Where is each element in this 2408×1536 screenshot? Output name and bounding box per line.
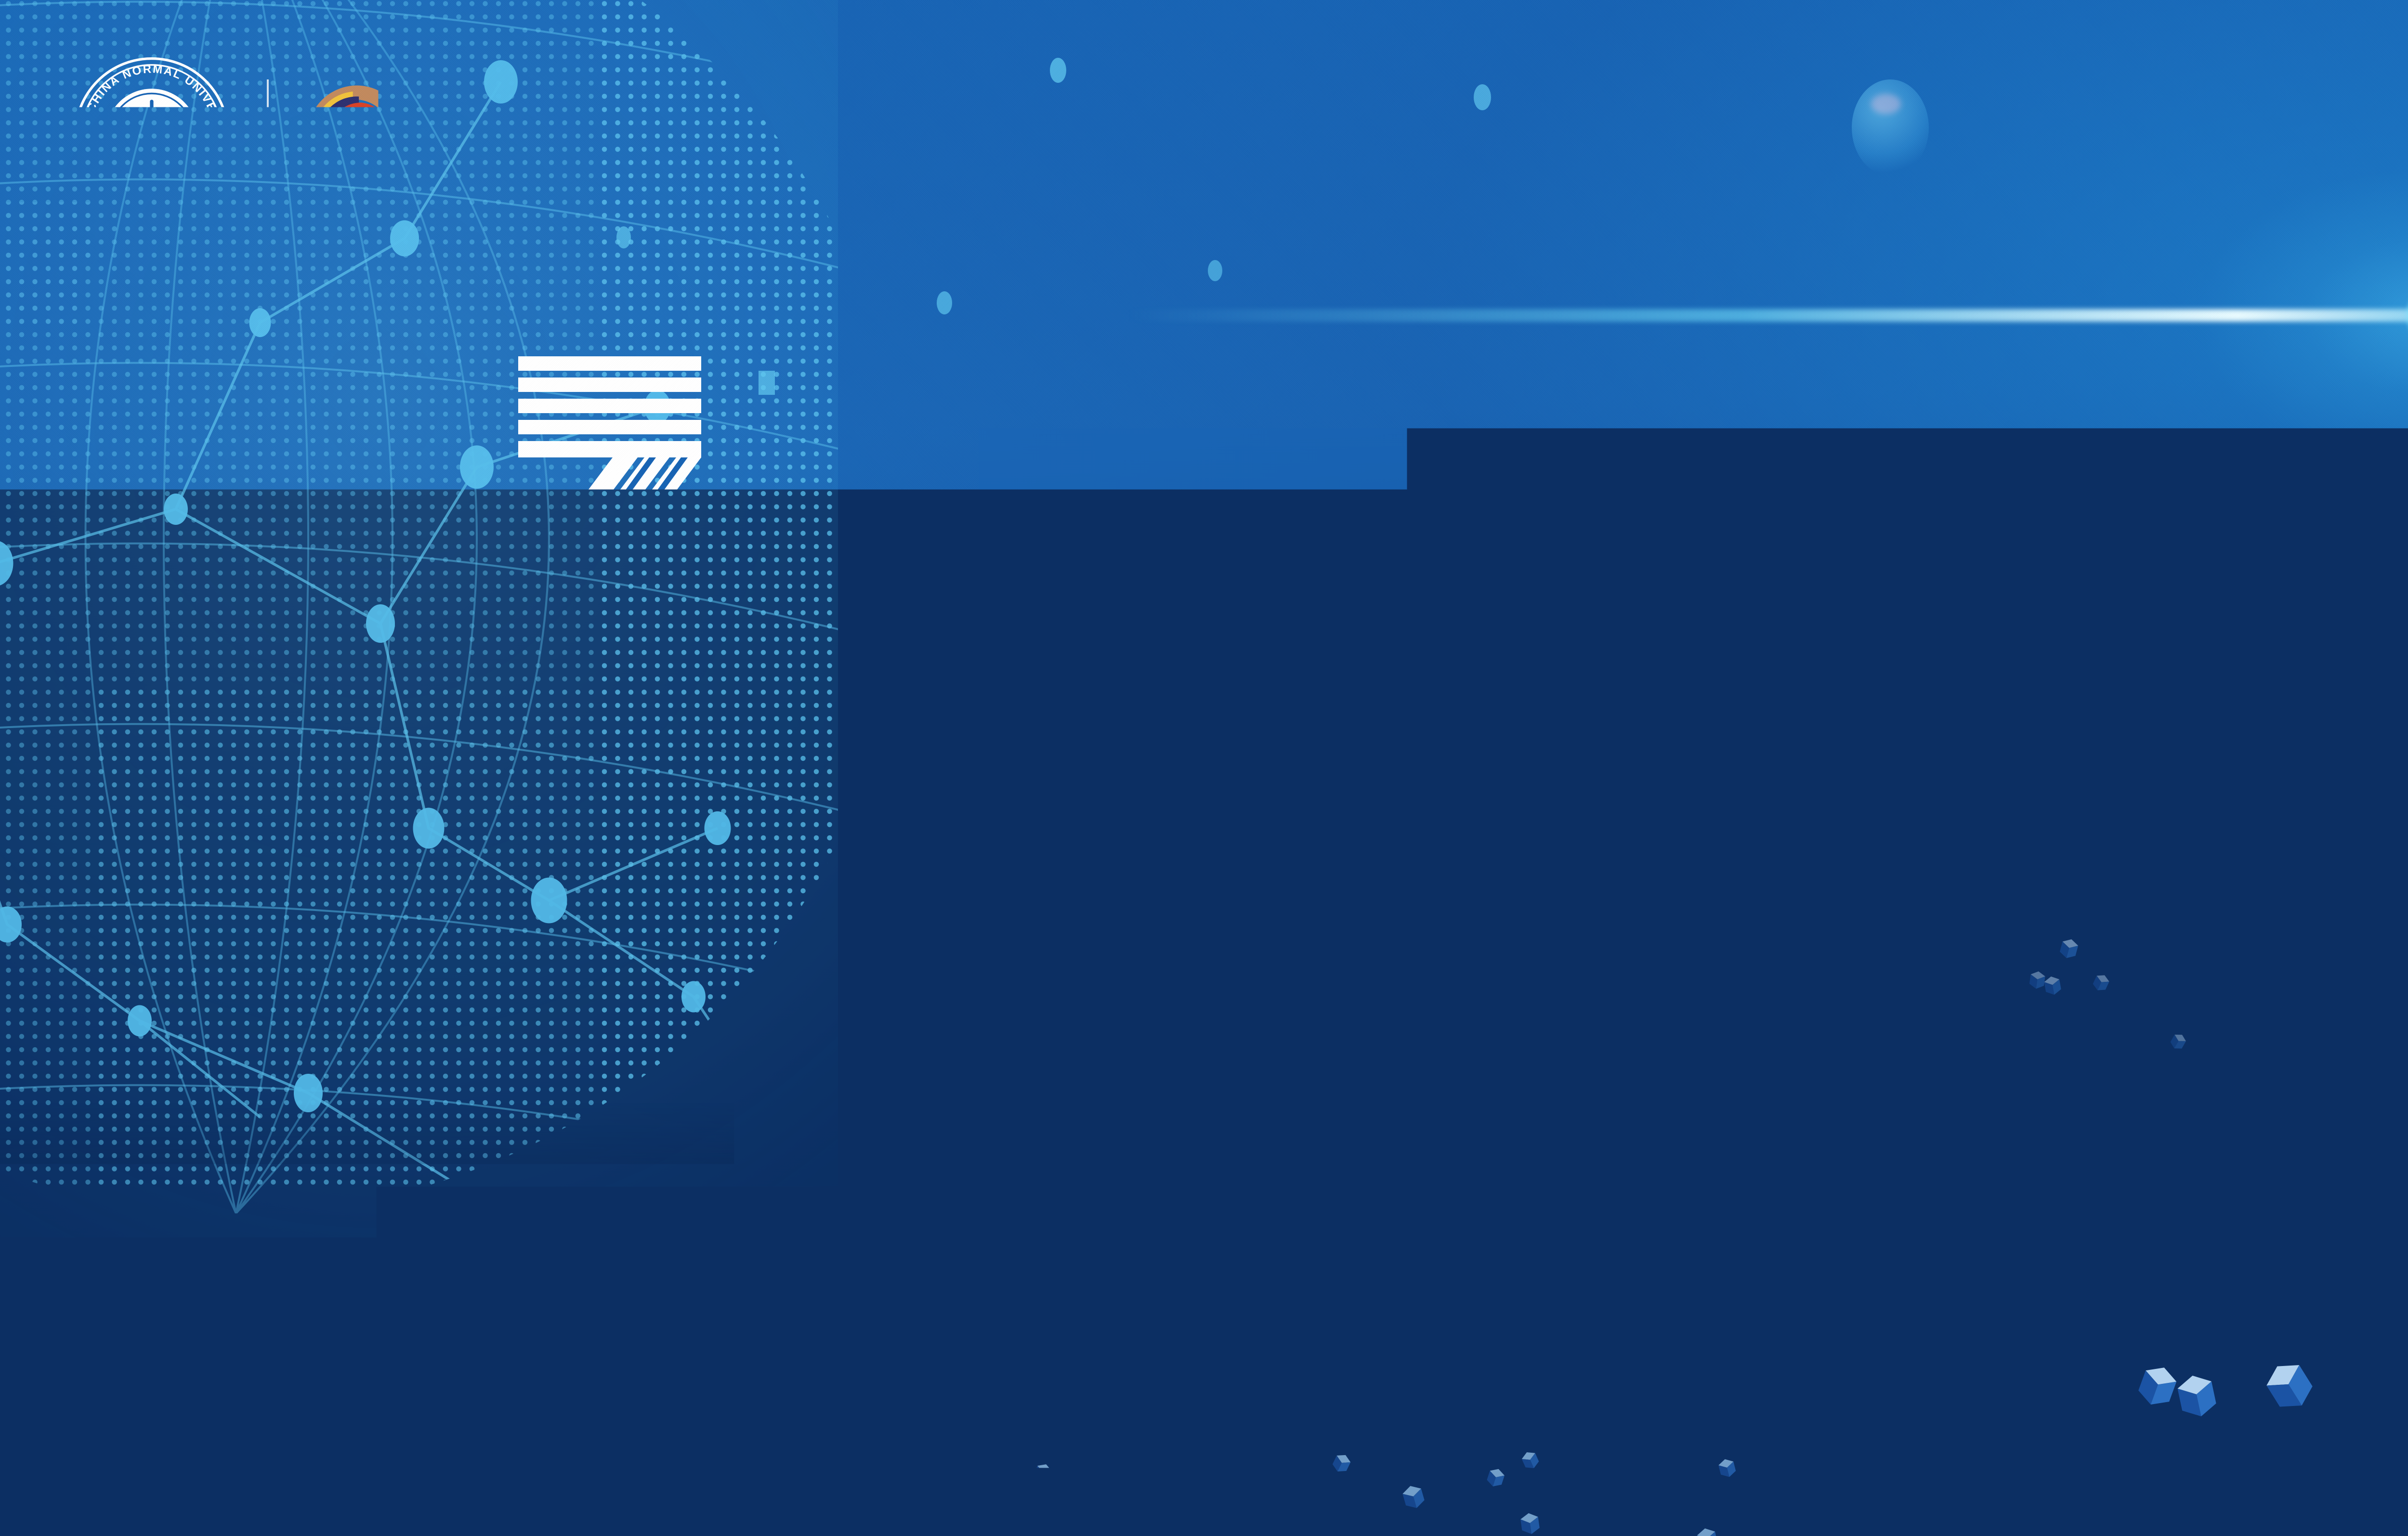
date-badge: 2024年6月29日 xyxy=(1047,1203,1707,1286)
organizer-row: 承办单位:华东师范大学战略传播研究中心 xyxy=(901,885,1529,916)
title-suffix: 届战略传播学术研讨会 xyxy=(727,457,2316,616)
comm-c-mark-icon xyxy=(306,79,407,190)
bokeh-orb xyxy=(1050,58,1066,83)
comm-en-secondary: ECNU xyxy=(427,171,552,222)
bokeh-orb xyxy=(1474,84,1491,110)
organizer-label: 主办单位: xyxy=(901,812,1034,846)
organizer-row: 主办单位:华 东 师 范 大 学 传 播 学 院 xyxy=(901,814,1529,845)
logo-rule xyxy=(427,222,552,224)
organizer-value: 华 东 师 范 大 学 传 播 学 院 xyxy=(1034,812,1529,846)
comm-logo-text-block: 传播学院 华东师范大学 COMM ECNU xyxy=(427,46,552,223)
bokeh-orb xyxy=(1208,260,1222,281)
organizer-value: 华东师范大学战略传播研究中心 xyxy=(1034,883,1466,918)
page-title: 第 届战略传播学术研讨会 xyxy=(323,424,2316,616)
ecnu-seal-logo: EAST CHINA NORMAL UNIVERSITY 华东师范大学 xyxy=(72,55,231,214)
comm-en-primary: COMM xyxy=(427,119,552,170)
bokeh-orb xyxy=(937,291,952,314)
comm-ecnu-logo: 传播学院 华东师范大学 COMM ECNU xyxy=(306,46,552,223)
ordinal-number-7-graphic xyxy=(490,352,717,612)
organizer-label: 承办单位: xyxy=(901,883,1034,918)
header-logo-group: EAST CHINA NORMAL UNIVERSITY 华东师范大学 xyxy=(72,58,552,212)
bokeh-orb xyxy=(1871,94,1901,114)
date-badge-text: 2024年6月29日 xyxy=(1252,1220,1504,1269)
comm-cn-primary: 传播学院 xyxy=(427,47,552,89)
title-prefix: 第 xyxy=(323,457,482,616)
floating-cubes-decor xyxy=(2008,910,2408,1536)
organizer-block: 主办单位:华 东 师 范 大 学 传 播 学 院 承办单位:华东师范大学战略传播… xyxy=(901,814,1529,956)
logo-divider xyxy=(267,79,269,190)
bokeh-orb xyxy=(1852,79,1929,176)
floating-cubes-small-decor xyxy=(698,1310,1854,1536)
conference-banner: EAST CHINA NORMAL UNIVERSITY 华东师范大学 xyxy=(0,0,2408,1536)
comm-cn-secondary: 华东师范大学 xyxy=(427,89,552,117)
